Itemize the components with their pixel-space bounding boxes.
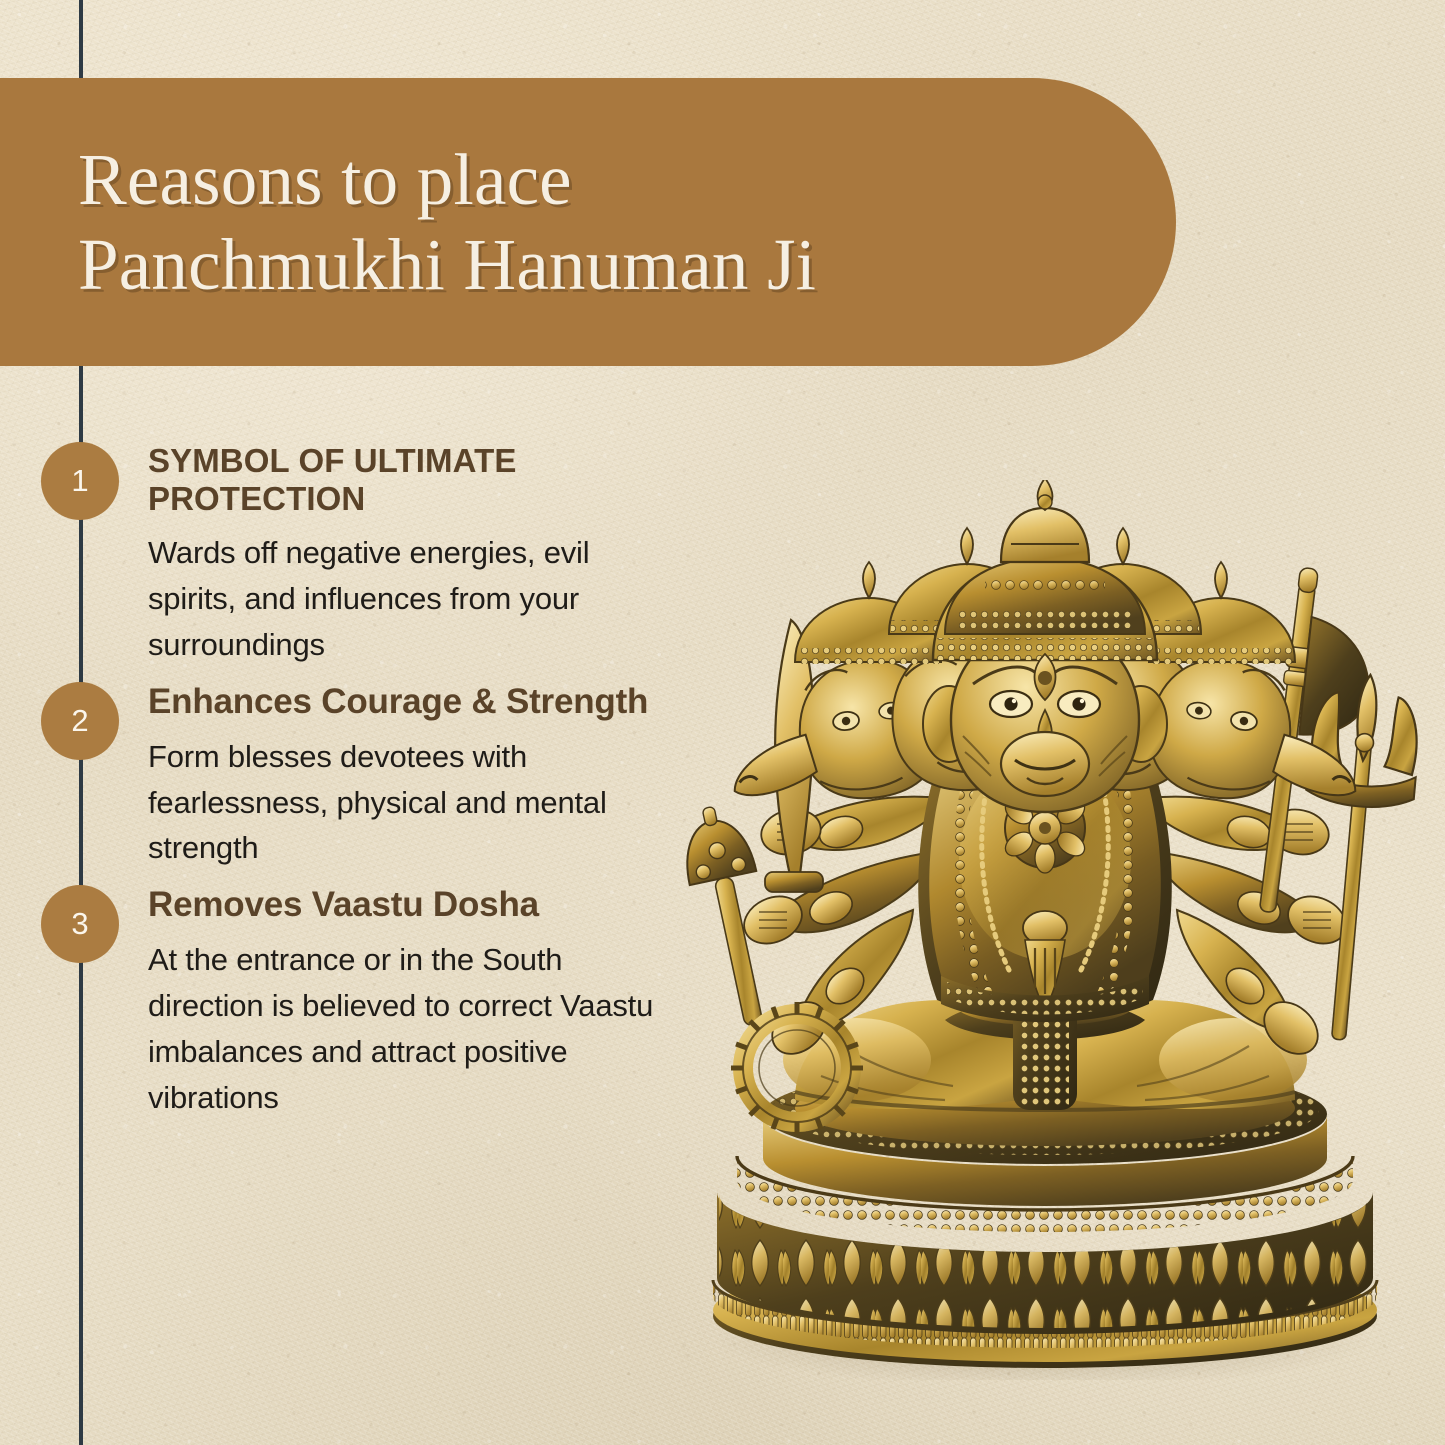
infographic-canvas: Reasons to place Panchmukhi Hanuman Ji [0, 0, 1445, 1445]
reason-badge-1: 1 [41, 442, 119, 520]
reason-title-3: Removes Vaastu Dosha [148, 885, 700, 925]
header-banner: Reasons to place Panchmukhi Hanuman Ji [0, 78, 1176, 366]
reason-title-2: Enhances Courage & Strength [148, 682, 700, 722]
reason-description-2: Form blesses devotees with fearlessness,… [148, 734, 668, 872]
reason-description-1: Wards off negative energies, evil spirit… [148, 530, 668, 668]
statue-illustration [645, 480, 1445, 1380]
reason-title-1: SYMBOL OF ULTIMATE PROTECTION [148, 442, 700, 518]
list-item: 1 SYMBOL OF ULTIMATE PROTECTION Wards of… [0, 442, 700, 668]
panchmukhi-hanuman-statue-image [645, 480, 1445, 1380]
reason-badge-2: 2 [41, 682, 119, 760]
list-item: 3 Removes Vaastu Dosha At the entrance o… [0, 885, 700, 1121]
page-title: Reasons to place Panchmukhi Hanuman Ji [0, 137, 816, 308]
reason-description-3: At the entrance or in the South directio… [148, 937, 668, 1121]
reason-badge-3: 3 [41, 885, 119, 963]
reasons-list: 1 SYMBOL OF ULTIMATE PROTECTION Wards of… [0, 432, 700, 1121]
list-item: 2 Enhances Courage & Strength Form bless… [0, 682, 700, 872]
